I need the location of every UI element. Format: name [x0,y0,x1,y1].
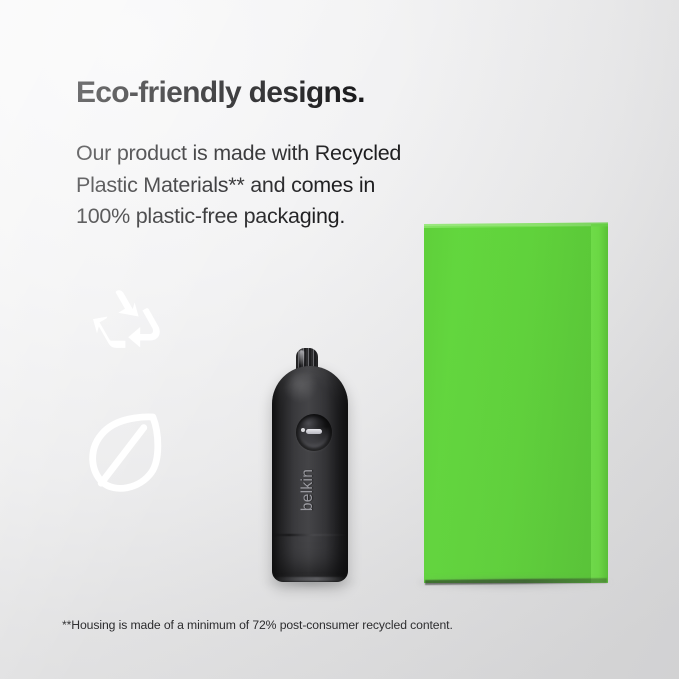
product-box [424,224,610,584]
charger-product: belkin [268,348,354,586]
body-copy: Our product is made with Recycled Plasti… [76,138,496,233]
brand-logo-text: belkin [299,469,317,511]
page-title: Eco-friendly designs. [76,76,365,110]
port-indicator-dot [301,428,305,432]
product-photo-scene: Eco-friendly designs. Our product is mad… [0,0,679,679]
box-shadow [418,578,616,591]
body-copy-line-2: Plastic Materials** and comes in [76,170,496,202]
footnote-text: **Housing is made of a minimum of 72% po… [62,617,453,633]
charger-tip-highlight [299,350,304,365]
charger-seam-line [273,534,347,536]
charger-body-highlight [284,372,324,416]
port-slot [306,429,322,434]
recycle-icon [84,288,166,368]
box-side-face [591,224,608,583]
charger-shadow [262,578,360,590]
brand-logo: belkin [297,452,319,528]
body-copy-line-1: Our product is made with Recycled [76,138,496,170]
leaf-icon [86,412,162,492]
box-front-face [424,226,592,583]
